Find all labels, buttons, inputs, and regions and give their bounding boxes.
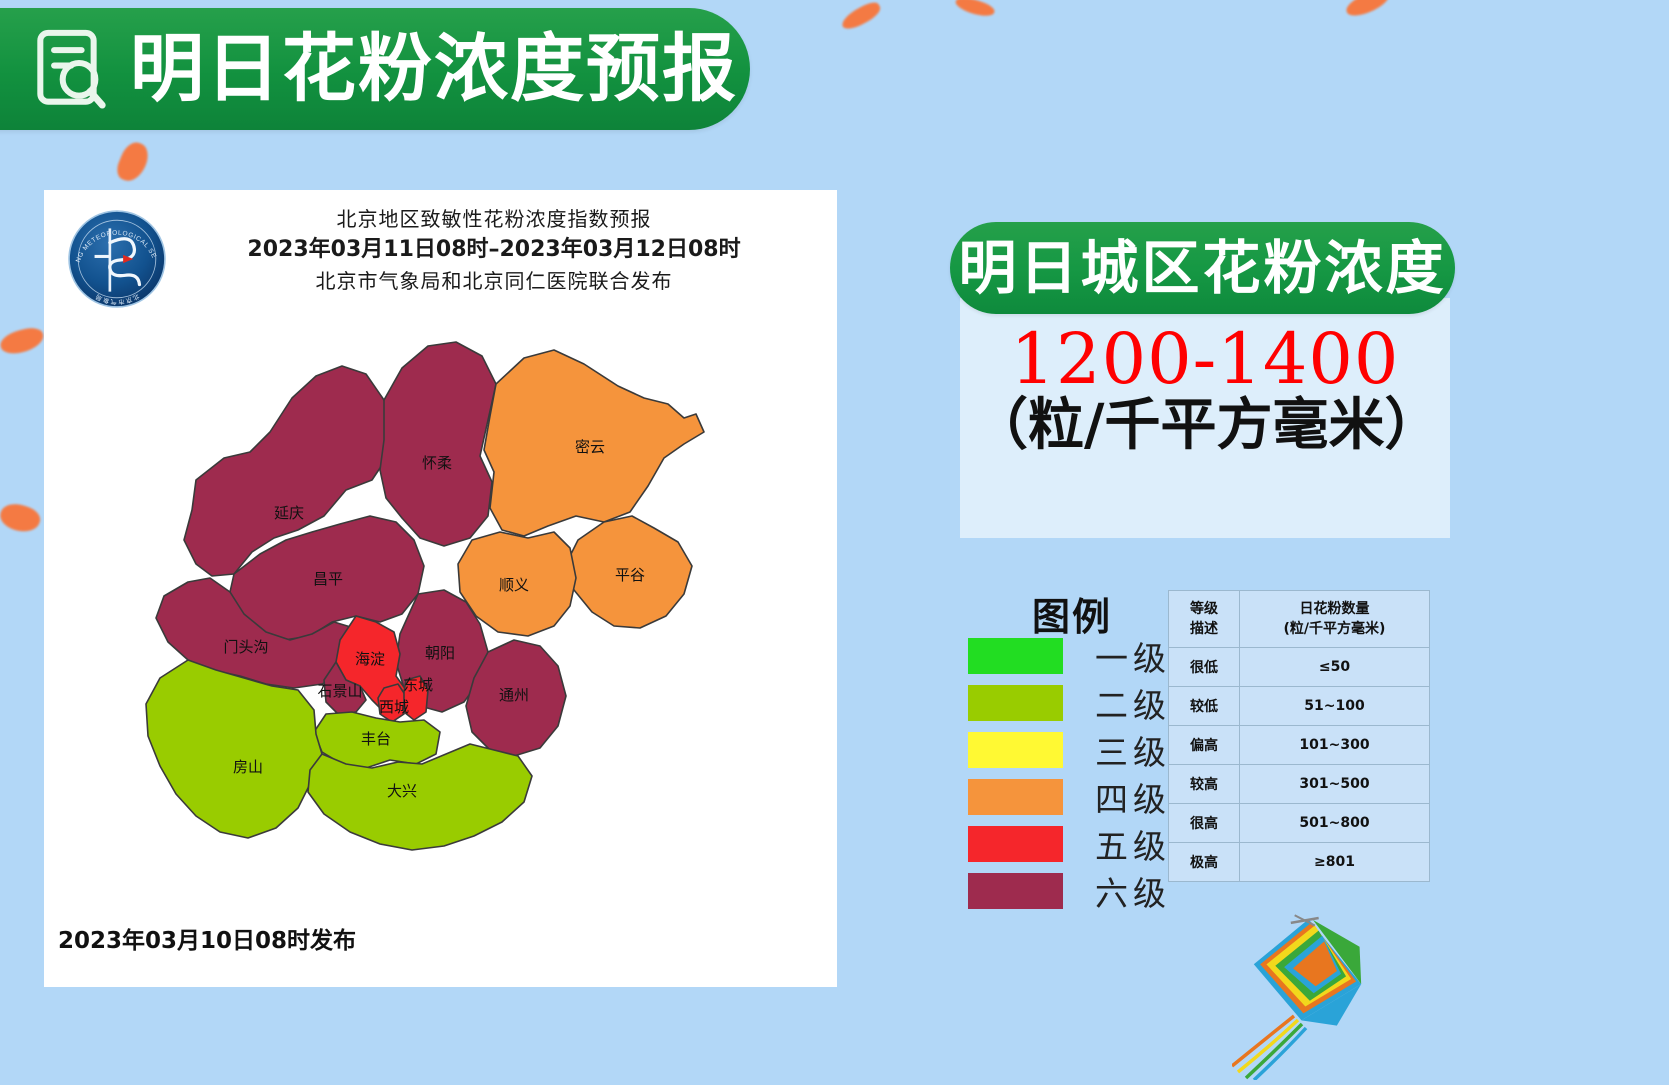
decor-swoosh xyxy=(113,139,152,186)
district-label: 海淀 xyxy=(355,650,385,668)
district-label: 西城 xyxy=(379,698,409,716)
table-header-level: 等级 描述 xyxy=(1169,591,1240,648)
legend-item-label: 五级 xyxy=(1095,820,1171,868)
decor-swoosh xyxy=(839,0,884,33)
page-title: 明日花粉浓度预报 xyxy=(130,32,738,106)
decor-swoosh xyxy=(0,325,46,357)
district-label: 顺义 xyxy=(499,576,529,594)
legend-color-chip xyxy=(968,638,1063,674)
forecast-map-card: BEIJING METEOROLOGICAL SERVICE 北京市气象局 北京… xyxy=(44,190,837,987)
table-header-level-line2: 描述 xyxy=(1171,619,1237,639)
table-row: 很高 501~800 xyxy=(1169,804,1430,843)
district-label: 石景山 xyxy=(317,682,362,700)
concentration-panel-title: 明日城区花粉浓度 xyxy=(958,239,1446,297)
legend-item: 四级 xyxy=(968,773,1171,820)
district-label: 昌平 xyxy=(313,570,343,588)
legend-item: 六级 xyxy=(968,867,1171,914)
row-desc: 极高 xyxy=(1169,843,1240,882)
table-row: 很低 ≤50 xyxy=(1169,648,1430,687)
legend-swatch-list: 一级 二级 三级 四级 五级 六级 xyxy=(968,632,1171,914)
concentration-value: 1200-1400 xyxy=(972,324,1438,395)
legend-item-label: 二级 xyxy=(1095,679,1171,727)
concentration-value-box: 1200-1400 （粒/千平方毫米） xyxy=(960,298,1450,538)
row-range: 301~500 xyxy=(1240,765,1430,804)
table-header-count: 日花粉数量 (粒/千平方毫米) xyxy=(1240,591,1430,648)
district-label: 丰台 xyxy=(361,730,391,748)
concentration-panel-header: 明日城区花粉浓度 xyxy=(950,222,1455,314)
district-label: 延庆 xyxy=(274,504,304,522)
row-desc: 偏高 xyxy=(1169,726,1240,765)
district-label: 通州 xyxy=(499,686,529,704)
map-heading: 北京地区致敏性花粉浓度指数预报 2023年03月11日08时–2023年03月1… xyxy=(164,204,824,297)
decor-swoosh xyxy=(954,0,996,20)
table-header-row: 等级 描述 日花粉数量 (粒/千平方毫米) xyxy=(1169,591,1430,648)
table-row: 较低 51~100 xyxy=(1169,687,1430,726)
district-label: 朝阳 xyxy=(425,644,455,662)
row-desc: 较高 xyxy=(1169,765,1240,804)
row-range: 101~300 xyxy=(1240,726,1430,765)
legend-color-chip xyxy=(968,732,1063,768)
table-row: 较高 301~500 xyxy=(1169,765,1430,804)
legend-color-chip xyxy=(968,826,1063,862)
document-search-icon xyxy=(30,26,116,112)
page-header-banner: 明日花粉浓度预报 xyxy=(0,8,750,130)
pollen-level-table: 等级 描述 日花粉数量 (粒/千平方毫米) 很低 ≤50 较低 51~100 偏… xyxy=(1168,590,1430,882)
legend-item: 二级 xyxy=(968,679,1171,726)
table-header-count-line1: 日花粉数量 xyxy=(1242,599,1427,619)
row-range: 51~100 xyxy=(1240,687,1430,726)
row-range: ≤50 xyxy=(1240,648,1430,687)
district-label: 密云 xyxy=(575,438,605,456)
row-range: ≥801 xyxy=(1240,843,1430,882)
legend-item: 五级 xyxy=(968,820,1171,867)
map-heading-line2: 2023年03月11日08时–2023年03月12日08时 xyxy=(164,234,824,266)
legend-item-label: 四级 xyxy=(1095,773,1171,821)
map-heading-line3: 北京市气象局和北京同仁医院联合发布 xyxy=(164,266,824,297)
legend-color-chip xyxy=(968,873,1063,909)
table-row: 偏高 101~300 xyxy=(1169,726,1430,765)
district-label: 平谷 xyxy=(615,566,645,584)
row-desc: 很高 xyxy=(1169,804,1240,843)
map-heading-line1: 北京地区致敏性花粉浓度指数预报 xyxy=(164,204,824,234)
table-header-level-line1: 等级 xyxy=(1171,599,1237,619)
table-header-count-line2: (粒/千平方毫米) xyxy=(1242,619,1427,639)
legend-area: 图例 一级 二级 三级 四级 五级 六级 xyxy=(960,580,1660,980)
decor-swoosh xyxy=(1343,0,1392,20)
map-issue-time: 2023年03月10日08时发布 xyxy=(58,921,356,955)
beijing-district-map[interactable]: 延庆 怀柔 密云 昌平 顺义 平谷 门头沟 海淀 朝阳 石景山 西城 东城 通州… xyxy=(84,340,796,950)
legend-color-chip xyxy=(968,685,1063,721)
legend-item-label: 六级 xyxy=(1095,867,1171,915)
beijing-meteorological-service-logo: BEIJING METEOROLOGICAL SERVICE 北京市气象局 xyxy=(66,208,168,310)
legend-item: 三级 xyxy=(968,726,1171,773)
legend-item-label: 三级 xyxy=(1095,726,1171,774)
table-row: 极高 ≥801 xyxy=(1169,843,1430,882)
district-huairou[interactable] xyxy=(380,342,496,546)
row-desc: 较低 xyxy=(1169,687,1240,726)
concentration-panel: 明日城区花粉浓度 1200-1400 （粒/千平方毫米） xyxy=(950,222,1470,538)
district-label: 大兴 xyxy=(387,782,417,800)
row-range: 501~800 xyxy=(1240,804,1430,843)
decor-swoosh xyxy=(0,499,43,536)
district-label: 怀柔 xyxy=(422,454,452,472)
row-desc: 很低 xyxy=(1169,648,1240,687)
legend-item: 一级 xyxy=(968,632,1171,679)
district-label: 房山 xyxy=(233,758,263,776)
district-label: 东城 xyxy=(403,676,433,694)
concentration-unit: （粒/千平方毫米） xyxy=(972,397,1438,456)
legend-item-label: 一级 xyxy=(1095,632,1171,680)
district-label: 门头沟 xyxy=(223,638,268,656)
legend-color-chip xyxy=(968,779,1063,815)
